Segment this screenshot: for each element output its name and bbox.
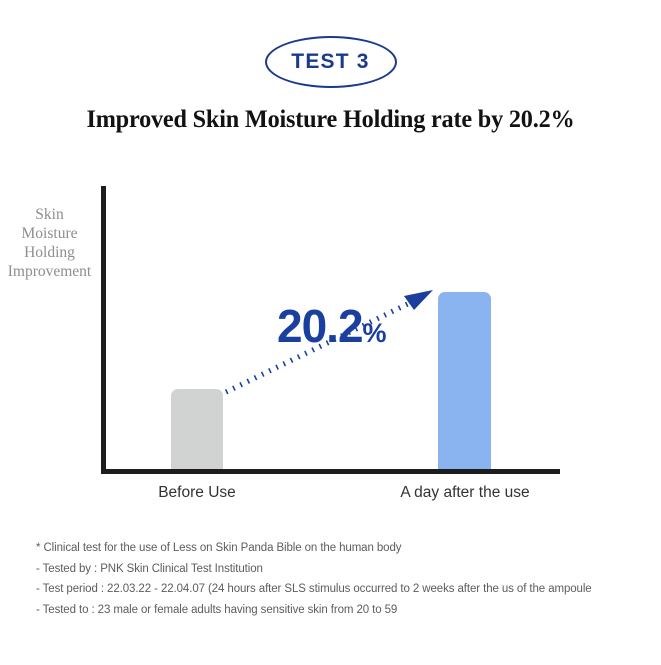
improvement-unit: %: [363, 318, 387, 348]
bar-a-day-after-the-use: [438, 292, 491, 469]
x-axis-line: [101, 469, 560, 474]
x-axis-label-after-use: A day after the use: [380, 484, 550, 502]
y-axis-label: Skin Moisture Holding Improvement: [0, 205, 99, 281]
x-axis-label-before-use: Before Use: [147, 484, 247, 502]
y-axis-label-line-3: Holding: [0, 243, 99, 262]
footnote-line-3: - Test period : 22.03.22 - 22.04.07 (24 …: [36, 579, 656, 600]
footnote-line-4: - Tested to : 23 male or female adults h…: [36, 600, 656, 621]
footnotes: * Clinical test for the use of Less on S…: [36, 538, 656, 620]
y-axis-label-line-4: Improvement: [0, 262, 99, 281]
y-axis-label-line-2: Moisture: [0, 224, 99, 243]
y-axis-label-line-1: Skin: [0, 205, 99, 224]
y-axis-line: [101, 186, 106, 474]
improvement-value: 20.2: [277, 300, 363, 352]
growth-arrow-icon: [0, 0, 661, 520]
improvement-callout: 20.2%: [277, 303, 387, 349]
footnote-line-1: * Clinical test for the use of Less on S…: [36, 538, 656, 559]
bar-before-use: [171, 389, 223, 469]
bar-chart: Skin Moisture Holding Improvement Before…: [0, 0, 661, 520]
footnote-line-2: - Tested by : PNK Skin Clinical Test Ins…: [36, 559, 656, 580]
